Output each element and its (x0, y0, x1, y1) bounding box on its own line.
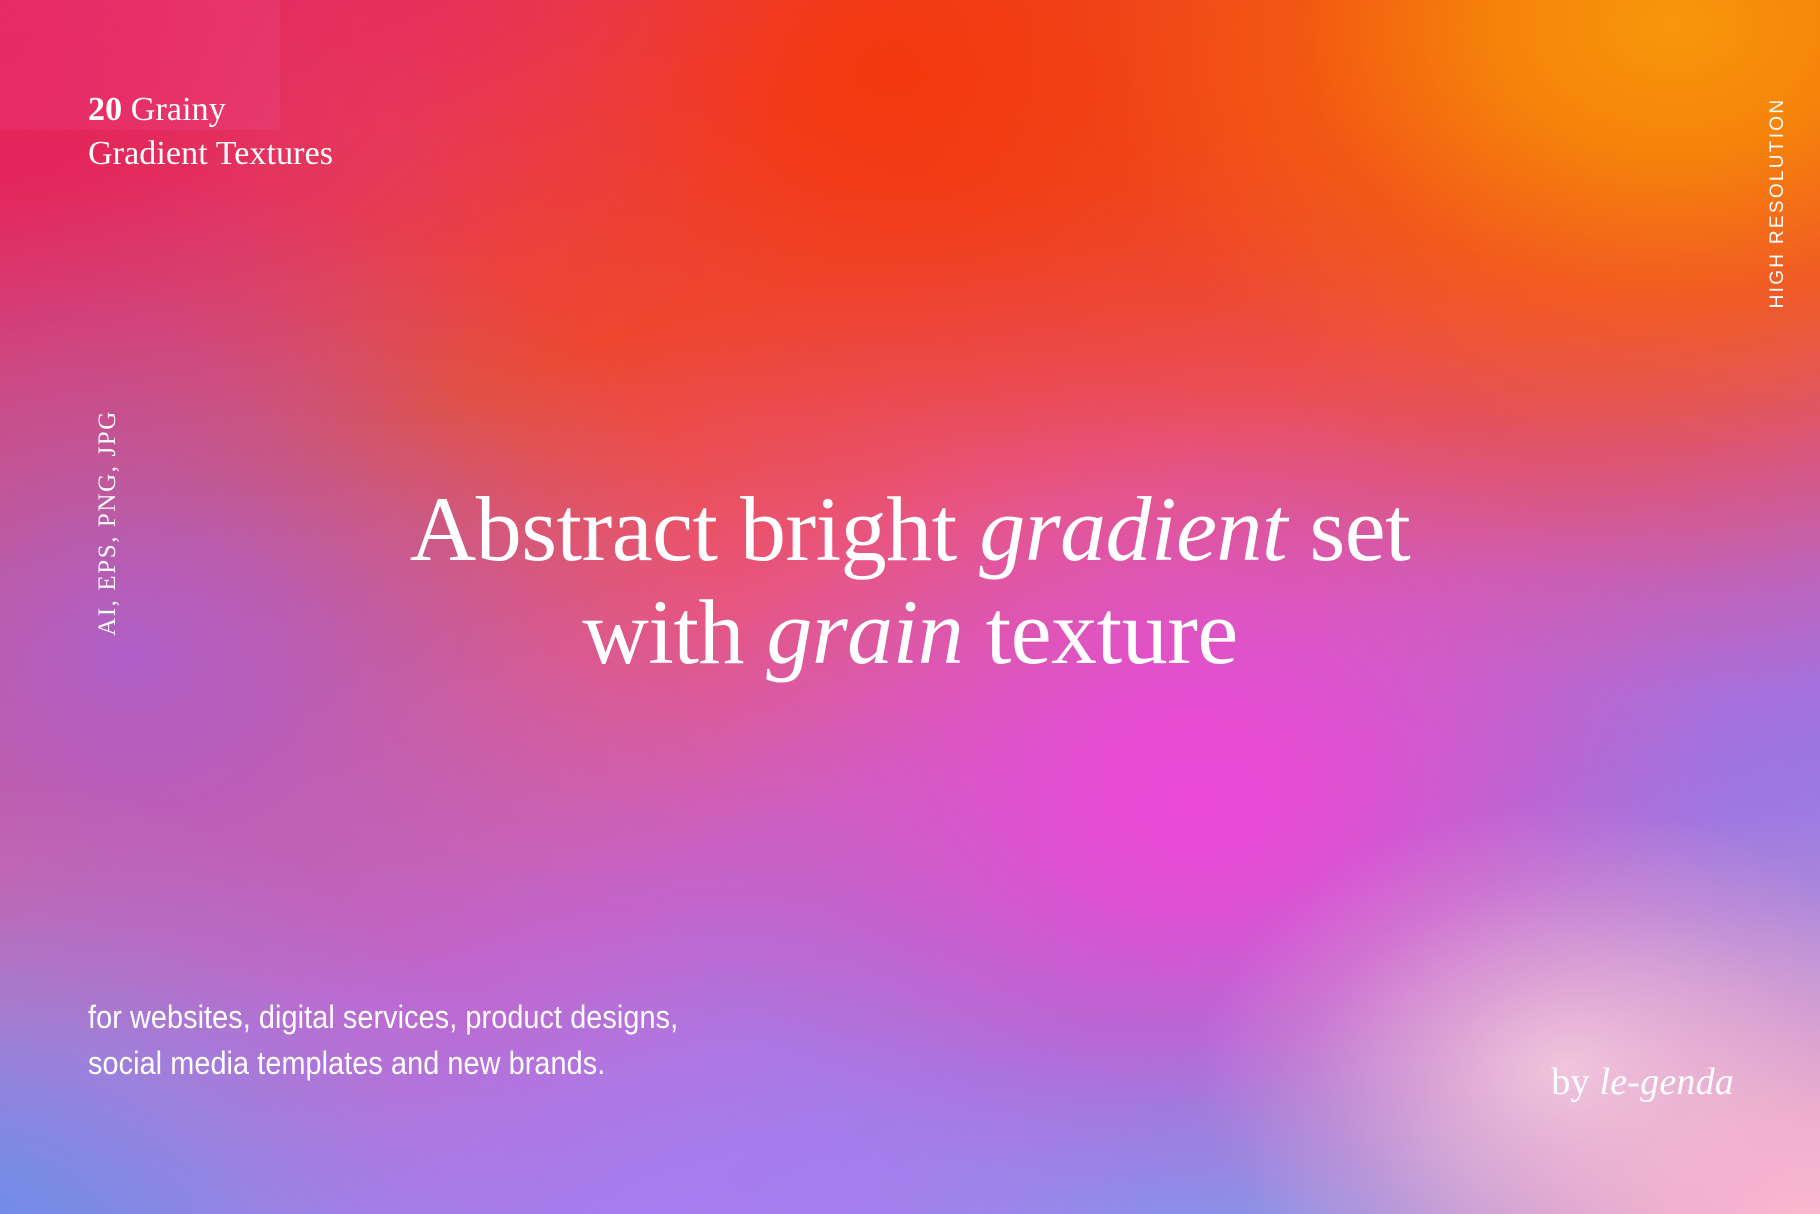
kicker-count: 20 (88, 91, 122, 128)
kicker-text: 20 Grainy Gradient Textures (88, 88, 333, 176)
poster-canvas: 20 Grainy Gradient Textures AI, EPS, PNG… (0, 0, 1820, 1214)
headline-italic-grain: grain (766, 581, 963, 683)
description-text: for websites, digital services, product … (88, 995, 678, 1086)
headline-part-1: Abstract bright (410, 478, 979, 580)
byline: by le-genda (1551, 1060, 1734, 1104)
high-resolution-label: HIGH RESOLUTION (1756, 98, 1800, 308)
headline: Abstract bright gradient set with grain … (0, 478, 1820, 684)
kicker-rest: Grainy (122, 91, 226, 128)
headline-part-3: texture (963, 581, 1237, 683)
high-resolution-text: HIGH RESOLUTION (1767, 98, 1789, 309)
kicker-line2: Gradient Textures (88, 135, 333, 172)
byline-prefix: by (1551, 1061, 1599, 1103)
byline-author-name: le-genda (1599, 1061, 1734, 1103)
headline-italic-gradient: gradient (979, 478, 1287, 580)
